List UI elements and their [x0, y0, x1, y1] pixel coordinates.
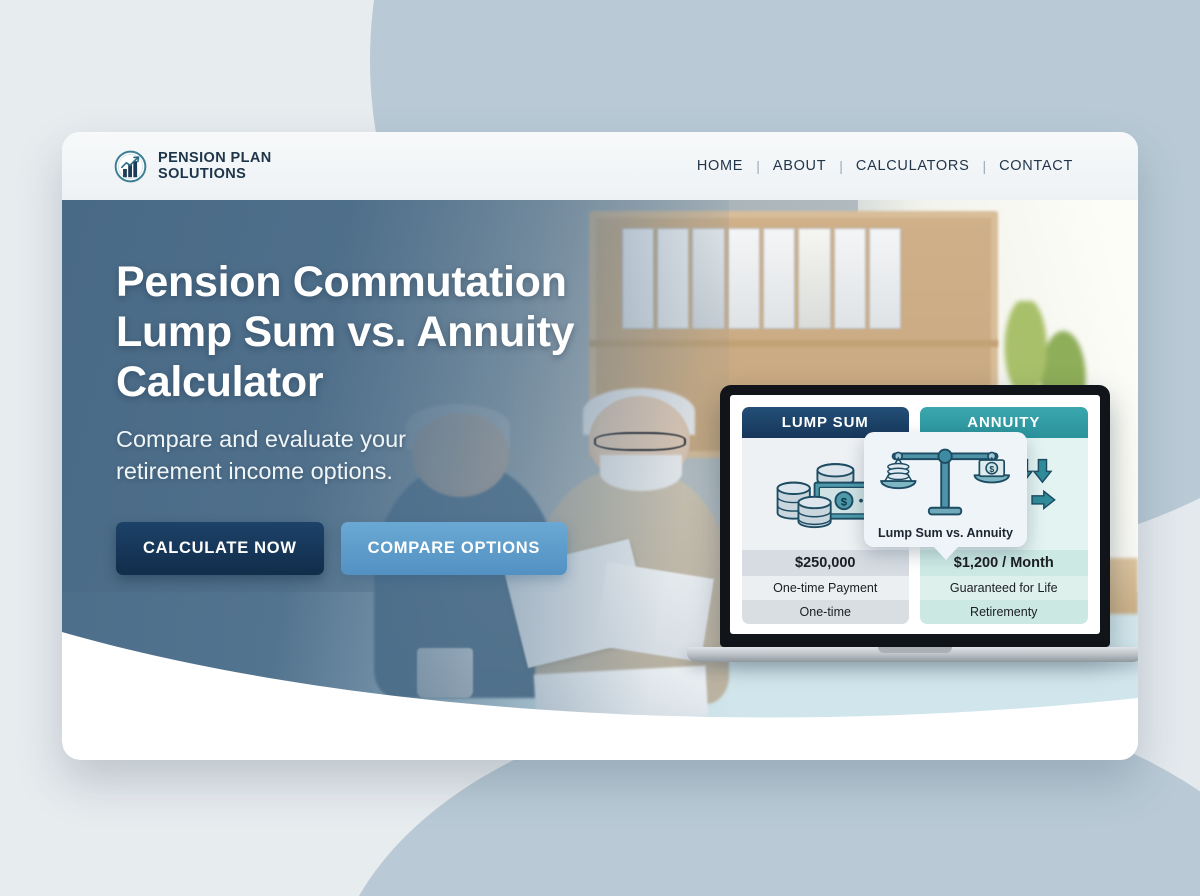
badge-pointer-tail — [933, 546, 959, 560]
hero-title-line-3: Calculator — [116, 358, 323, 406]
laptop-base — [687, 647, 1138, 662]
hero-section: Pension Commutation Lump Sum vs. Annuity… — [62, 200, 1138, 760]
brand-line-1: PENSION PLAN — [158, 150, 272, 166]
balance-scales-icon: $ — [872, 441, 1019, 523]
main-navigation: HOME | ABOUT | CALCULATORS | CONTACT — [686, 158, 1084, 174]
annuity-detail: Guaranteed for Life — [920, 576, 1088, 600]
hero-title-line-2: Lump Sum vs. Annuity — [116, 308, 574, 356]
website-mockup-card: PENSION PLAN SOLUTIONS HOME | ABOUT | CA… — [62, 132, 1138, 760]
calculate-now-button[interactable]: CALCULATE NOW — [116, 522, 324, 575]
page-title: Pension Commutation Lump Sum vs. Annuity… — [116, 258, 676, 408]
hero-subtitle-line-1: Compare and evaluate your — [116, 426, 406, 452]
hero-subtitle-line-2: retirement income options. — [116, 458, 393, 484]
bar-chart-growth-circle-icon — [114, 150, 147, 183]
svg-text:$: $ — [841, 496, 848, 508]
brand-line-2: SOLUTIONS — [158, 166, 272, 182]
hero-button-group: CALCULATE NOW COMPARE OPTIONS — [116, 522, 676, 575]
nav-item-contact[interactable]: CONTACT — [988, 158, 1084, 174]
brand-name: PENSION PLAN SOLUTIONS — [158, 150, 272, 182]
nav-separator: | — [754, 158, 762, 174]
compare-options-button[interactable]: COMPARE OPTIONS — [341, 522, 567, 575]
laptop-trackpad-notch — [878, 647, 952, 653]
site-header: PENSION PLAN SOLUTIONS HOME | ABOUT | CA… — [62, 132, 1138, 200]
badge-label: Lump Sum vs. Annuity — [872, 526, 1019, 540]
lump-sum-tag: One-time — [742, 600, 910, 624]
svg-text:$: $ — [989, 464, 994, 474]
nav-item-about[interactable]: ABOUT — [762, 158, 837, 174]
nav-item-calculators[interactable]: CALCULATORS — [845, 158, 981, 174]
nav-separator: | — [980, 158, 988, 174]
brand-logo[interactable]: PENSION PLAN SOLUTIONS — [114, 150, 272, 183]
hero-title-line-1: Pension Commutation — [116, 258, 567, 306]
hero-content: Pension Commutation Lump Sum vs. Annuity… — [116, 258, 676, 575]
nav-item-home[interactable]: HOME — [686, 158, 754, 174]
annuity-tag: Retirementy — [920, 600, 1088, 624]
floating-comparison-badge[interactable]: $ Lump Sum vs. Annuity — [864, 432, 1027, 547]
lump-sum-detail: One-time Payment — [742, 576, 910, 600]
hero-subtitle: Compare and evaluate your retirement inc… — [116, 424, 676, 488]
lump-sum-value: $250,000 — [742, 550, 910, 576]
nav-separator: | — [837, 158, 845, 174]
